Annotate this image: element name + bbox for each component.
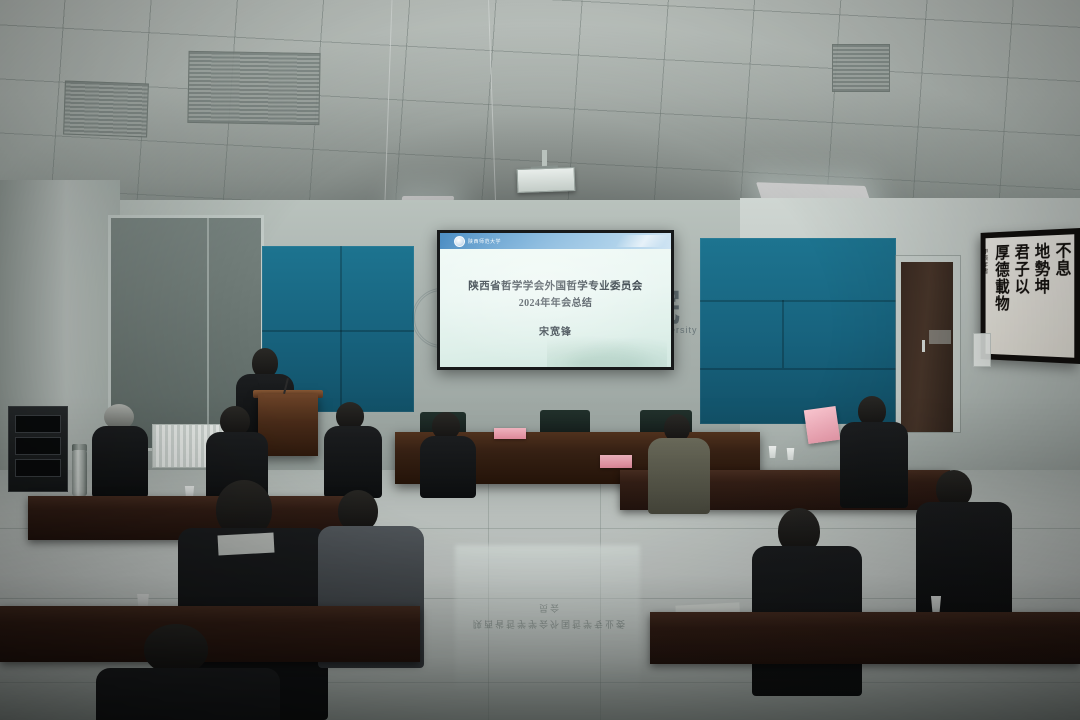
attendee-torso (92, 426, 148, 498)
projected-slide: 陕西师范大学 陕西省哲学学会外国哲学专业委员会 2024年年会总结 宋宽锋 (440, 233, 671, 367)
name-placard (600, 455, 632, 468)
slide-logo-text: 陕西师范大学 (468, 238, 501, 245)
panel-seam (700, 368, 896, 370)
calligraphy-column: 不息 (1053, 241, 1070, 350)
attendee-table-left-front (0, 606, 420, 662)
attendee-torso (840, 422, 908, 508)
slide-body: 陕西省哲学学会外国哲学专业委员会 2024年年会总结 宋宽锋 (440, 249, 671, 367)
conference-room-photo: 院 University 陕西师范大学 陕西省哲学学会外国哲学专业委员会 202… (0, 0, 1080, 720)
door-notice-sign (973, 333, 991, 367)
panel-seam (782, 300, 784, 368)
panel-seam (700, 300, 896, 302)
floor-reflection-text: 陕西省哲学学会外国哲学专业委员会 (470, 600, 630, 632)
slide-background-image (547, 331, 667, 367)
partition-mullion (207, 218, 209, 448)
attendee-head (144, 624, 208, 674)
handout-paper (218, 533, 275, 556)
university-emblem-icon (454, 236, 465, 247)
door-vision-panel (929, 330, 951, 344)
slide-subtitle: 2024年年会总结 (440, 294, 671, 309)
ceiling-projector (517, 167, 576, 193)
door-handle[interactable] (922, 340, 925, 352)
attendee-torso (648, 438, 710, 514)
projection-screen: 陕西师范大学 陕西省哲学学会外国哲学专业委员会 2024年年会总结 宋宽锋 (437, 230, 674, 370)
av-rack-slot (15, 437, 61, 455)
slide-header-band: 陕西师范大学 (440, 233, 671, 249)
av-rack-slot (15, 459, 61, 477)
attendee-torso (420, 436, 476, 498)
name-placard (804, 406, 840, 444)
calligraphy-signature: 甲辰年書 (986, 248, 989, 274)
attendee-table-right-front (650, 612, 1080, 664)
room-door[interactable] (901, 262, 953, 432)
calligraphy-column: 君子以 (1012, 243, 1028, 349)
panel-seam (340, 246, 342, 412)
attendee-torso (96, 668, 280, 720)
calligraphy-artwork: 不息 地勢坤 君子以 厚德載物 甲辰年書 (981, 228, 1080, 364)
calligraphy-column: 厚德載物 (993, 244, 1008, 348)
calligraphy-column: 地勢坤 (1032, 242, 1048, 349)
calligraphy-paper: 不息 地勢坤 君子以 厚德載物 甲辰年書 (986, 234, 1075, 357)
slide-university-logo: 陕西师范大学 (454, 236, 501, 247)
av-equipment-rack (8, 406, 68, 492)
panel-seam (262, 330, 414, 332)
slide-header-swoosh (616, 235, 668, 247)
slide-title: 陕西省哲学学会外国哲学专业委员会 (440, 278, 671, 293)
attendee-torso (324, 426, 382, 498)
name-placard (494, 428, 526, 439)
thermos-flask (72, 450, 87, 496)
av-rack-slot (15, 415, 61, 433)
